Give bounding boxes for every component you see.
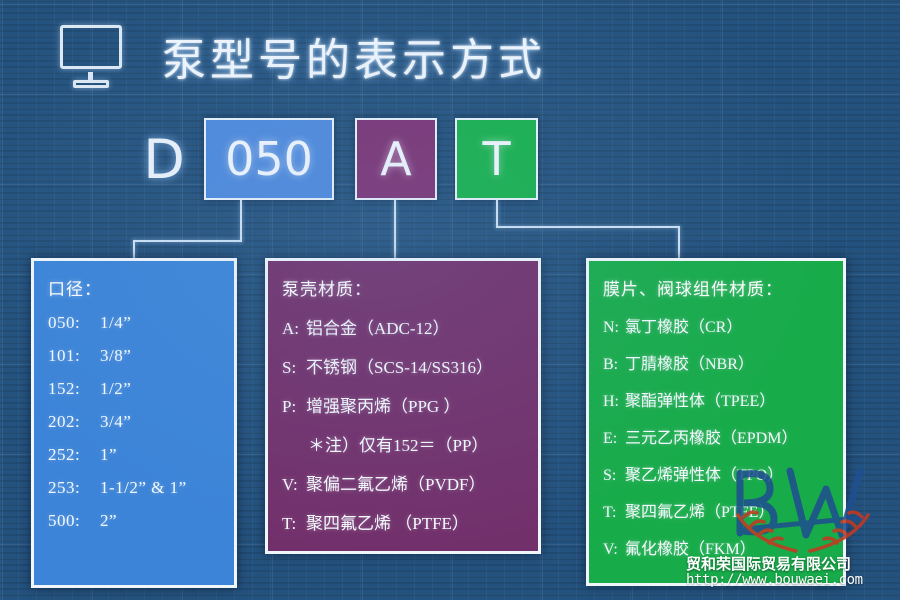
list-item: S: 聚乙烯弹性体（TPO）: [603, 461, 831, 485]
page-title: 泵型号的表示方式: [162, 24, 546, 88]
connector-bore-horizontal: [133, 240, 242, 242]
connector-diaphragm-vertical-top: [678, 226, 680, 260]
panel-casing-rows: A: 铝合金（ADC-12） S: 不锈钢（SCS-14/SS316） P: 增…: [282, 314, 526, 534]
row-value: 2”: [100, 511, 117, 531]
row-value: 1-1/2” & 1”: [100, 478, 187, 498]
model-code-row: D 050 A T: [0, 118, 900, 200]
connector-casing-vertical: [394, 200, 396, 260]
row-value: 丁腈橡胶（NBR）: [625, 350, 754, 374]
list-item: 252: 1”: [48, 445, 222, 465]
row-value: 增强聚丙烯（PPG ）: [306, 392, 460, 417]
row-key: 252:: [48, 445, 100, 465]
panel-bore: 口径： 050: 1/4” 101: 3/8” 152: 1/2” 202: 3…: [31, 258, 237, 588]
list-item: 253: 1-1/2” & 1”: [48, 478, 222, 498]
row-key: N:: [603, 319, 625, 337]
row-key: S:: [282, 358, 306, 378]
list-item: S: 不锈钢（SCS-14/SS316）: [282, 353, 526, 378]
panel-diaphragm-rows: N: 氯丁橡胶（CR） B: 丁腈橡胶（NBR） H: 聚酯弹性体（TPEE） …: [603, 313, 831, 559]
row-value: 1/4”: [100, 313, 131, 333]
row-key: 101:: [48, 346, 100, 366]
list-item-note: ＊注）仅有152＝（PP）: [308, 431, 526, 456]
row-key: 050:: [48, 313, 100, 333]
row-value: 铝合金（ADC-12）: [306, 314, 450, 339]
row-key: 152:: [48, 379, 100, 399]
row-key: P:: [282, 397, 306, 417]
list-item: T: 聚四氟乙烯 （PTFE）: [282, 509, 526, 534]
row-key: V:: [603, 541, 625, 559]
list-item: V: 氟化橡胶（FKM）: [603, 535, 831, 559]
list-item: 202: 3/4”: [48, 412, 222, 432]
row-key: 500:: [48, 511, 100, 531]
list-item: A: 铝合金（ADC-12）: [282, 314, 526, 339]
panel-bore-title: 口径：: [48, 275, 222, 300]
row-key: H:: [603, 393, 625, 411]
panel-diaphragm-title: 膜片、阀球组件材质：: [603, 275, 831, 300]
row-value: 聚四氟乙烯（PTFE）: [625, 498, 774, 522]
list-item: 101: 3/8”: [48, 346, 222, 366]
monitor-base: [73, 80, 109, 88]
row-value: 聚四氟乙烯 （PTFE）: [306, 509, 469, 534]
list-item: N: 氯丁橡胶（CR）: [603, 313, 831, 337]
row-key: A:: [282, 319, 306, 339]
connector-bore-vertical-bottom: [133, 240, 135, 260]
row-key: S:: [603, 467, 625, 485]
row-key: V:: [282, 475, 306, 495]
connector-diaphragm-vertical-bottom: [496, 200, 498, 228]
code-box-casing[interactable]: A: [355, 118, 437, 200]
connector-diaphragm-elbow: [496, 226, 679, 228]
row-key: B:: [603, 356, 625, 374]
row-value: 1/2”: [100, 379, 131, 399]
code-box-diaphragm[interactable]: T: [455, 118, 538, 200]
row-value: 聚乙烯弹性体（TPO）: [625, 461, 783, 485]
list-item: B: 丁腈橡胶（NBR）: [603, 350, 831, 374]
row-key: 202:: [48, 412, 100, 432]
code-letter-d: D: [132, 118, 196, 200]
row-value: 3/8”: [100, 346, 131, 366]
header: 泵型号的表示方式: [60, 24, 546, 88]
list-item: T: 聚四氟乙烯（PTFE）: [603, 498, 831, 522]
connector-bore-vertical-top: [240, 200, 242, 242]
panel-diaphragm: 膜片、阀球组件材质： N: 氯丁橡胶（CR） B: 丁腈橡胶（NBR） H: 聚…: [586, 258, 846, 586]
row-key: T:: [603, 504, 625, 522]
panel-bore-rows: 050: 1/4” 101: 3/8” 152: 1/2” 202: 3/4” …: [48, 313, 222, 531]
row-value: 三元乙丙橡胶（EPDM）: [625, 424, 797, 448]
list-item: P: 增强聚丙烯（PPG ）: [282, 392, 526, 417]
row-key: T:: [282, 514, 306, 534]
list-item: 152: 1/2”: [48, 379, 222, 399]
list-item: H: 聚酯弹性体（TPEE）: [603, 387, 831, 411]
row-value: 1”: [100, 445, 117, 465]
slide-background: 泵型号的表示方式 D 050 A T 口径： 050: 1/4” 101: 3/…: [0, 0, 900, 600]
row-value: 聚偏二氟乙烯（PVDF）: [306, 470, 485, 495]
list-item: V: 聚偏二氟乙烯（PVDF）: [282, 470, 526, 495]
row-value: 氟化橡胶（FKM）: [625, 535, 756, 559]
row-value: 3/4”: [100, 412, 131, 432]
list-item: E: 三元乙丙橡胶（EPDM）: [603, 424, 831, 448]
code-box-bore[interactable]: 050: [204, 118, 334, 200]
panel-casing: 泵壳材质： A: 铝合金（ADC-12） S: 不锈钢（SCS-14/SS316…: [265, 258, 541, 554]
panel-casing-title: 泵壳材质：: [282, 275, 526, 300]
monitor-icon: [60, 25, 126, 87]
row-value: 氯丁橡胶（CR）: [625, 313, 742, 337]
monitor-screen: [60, 25, 122, 69]
row-value: 聚酯弹性体（TPEE）: [625, 387, 775, 411]
row-value: ＊注）仅有152＝（PP）: [308, 431, 488, 456]
list-item: 050: 1/4”: [48, 313, 222, 333]
list-item: 500: 2”: [48, 511, 222, 531]
row-key: E:: [603, 430, 625, 448]
row-key: 253:: [48, 478, 100, 498]
row-value: 不锈钢（SCS-14/SS316）: [306, 353, 493, 378]
